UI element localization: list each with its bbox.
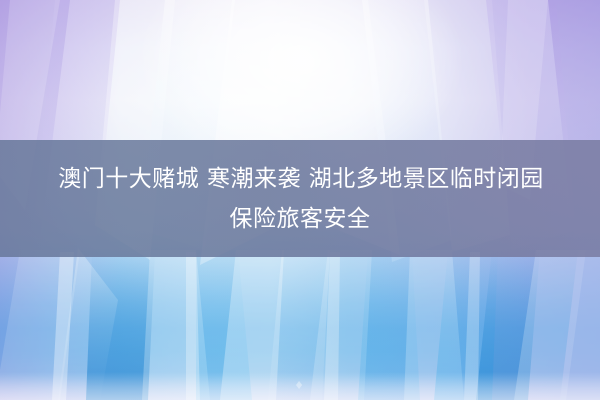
caption-band: 澳门十大赌城 寒潮来袭 湖北多地景区临时闭园 保险旅客安全 <box>0 140 600 257</box>
watermark: ♦ <box>0 379 600 392</box>
caption-line-1: 澳门十大赌城 寒潮来袭 湖北多地景区临时闭园 <box>56 159 544 199</box>
banner-image: ♦ 澳门十大赌城 寒潮来袭 湖北多地景区临时闭园 保险旅客安全 <box>0 0 600 400</box>
caption-line-2: 保险旅客安全 <box>230 199 371 239</box>
